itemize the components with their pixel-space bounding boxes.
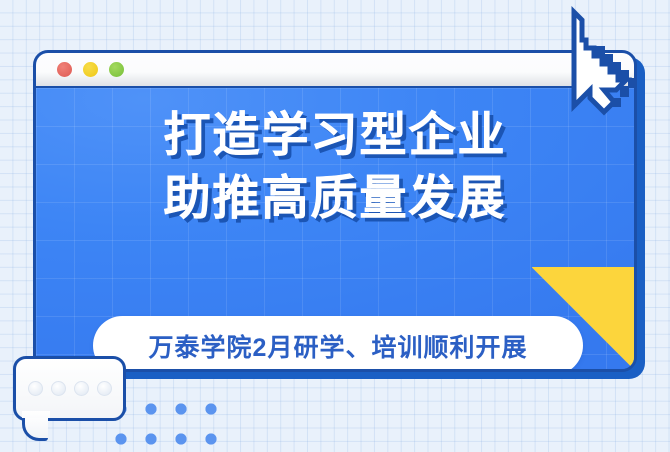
window-content-panel: 打造学习型企业 助推高质量发展 万泰学院2月研学、培训顺利开展 [36,88,634,369]
chat-bubble-tail [22,414,48,441]
typing-dot [74,381,89,396]
window-titlebar [36,53,634,88]
headline-line-2: 助推高质量发展 [36,167,634,230]
chat-bubble [13,356,126,441]
typing-dot [51,381,66,396]
maximize-button[interactable] [109,62,124,77]
typing-dot [97,381,112,396]
headline: 打造学习型企业 助推高质量发展 [36,104,634,229]
minimize-button[interactable] [83,62,98,77]
subtitle-pill: 万泰学院2月研学、培训顺利开展 [93,316,583,372]
poster-canvas: 打造学习型企业 助推高质量发展 万泰学院2月研学、培训顺利开展 [0,0,670,452]
chat-bubble-tail-join [22,411,50,418]
typing-dot [28,381,43,396]
subtitle-text: 万泰学院2月研学、培训顺利开展 [149,328,528,364]
mouse-cursor-icon [560,2,660,124]
browser-window-card: 打造学习型企业 助推高质量发展 万泰学院2月研学、培训顺利开展 [33,50,637,372]
headline-line-1: 打造学习型企业 [36,104,634,167]
window-controls [57,62,124,77]
close-button[interactable] [57,62,72,77]
